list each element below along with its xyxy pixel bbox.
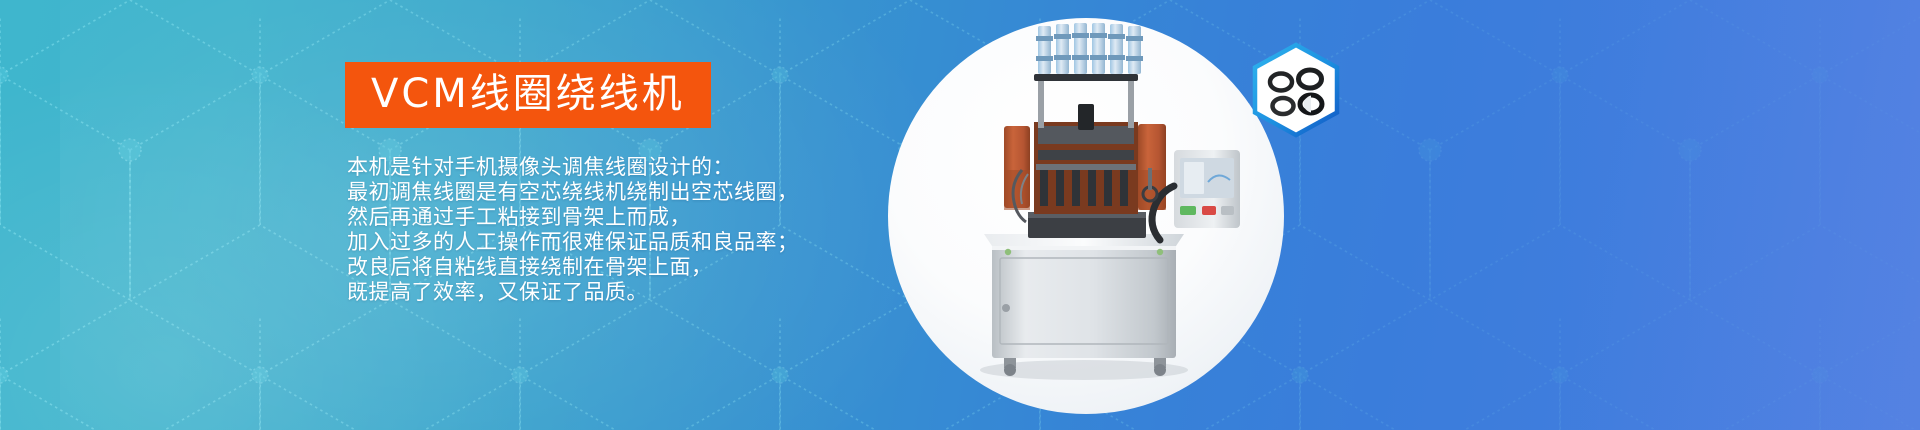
description-block: 本机是针对手机摄像头调焦线圈设计的： 最初调焦线圈是有空芯绕线机绕制出空芯线圈，… xyxy=(347,155,907,305)
banner-content: VCM线圈绕线机 本机是针对手机摄像头调焦线圈设计的： 最初调焦线圈是有空芯绕线… xyxy=(345,0,905,430)
description-line-3: 然后再通过手工粘接到骨架上而成， xyxy=(347,205,907,230)
description-line-2: 最初调焦线圈是有空芯绕线机绕制出空芯线圈， xyxy=(347,180,907,205)
promo-banner: VCM线圈绕线机 本机是针对手机摄像头调焦线圈设计的： 最初调焦线圈是有空芯绕线… xyxy=(0,0,1920,430)
description-line-1: 本机是针对手机摄像头调焦线圈设计的： xyxy=(347,155,907,180)
product-photo-circle xyxy=(888,18,1284,414)
right-edge-fade xyxy=(1560,0,1920,430)
description-line-4: 加入过多的人工操作而很难保证品质和良品率； xyxy=(347,230,907,255)
product-photo xyxy=(888,18,1284,414)
hexagon-coil-samples-badge xyxy=(1250,42,1342,138)
page-title: VCM线圈绕线机 xyxy=(345,62,711,128)
page-title-text: VCM线圈绕线机 xyxy=(371,74,685,114)
description-line-6: 既提高了效率，又保证了品质。 xyxy=(347,280,907,305)
description-line-5: 改良后将自粘线直接绕制在骨架上面， xyxy=(347,255,907,280)
winding-machine-photo-icon xyxy=(888,18,1284,414)
